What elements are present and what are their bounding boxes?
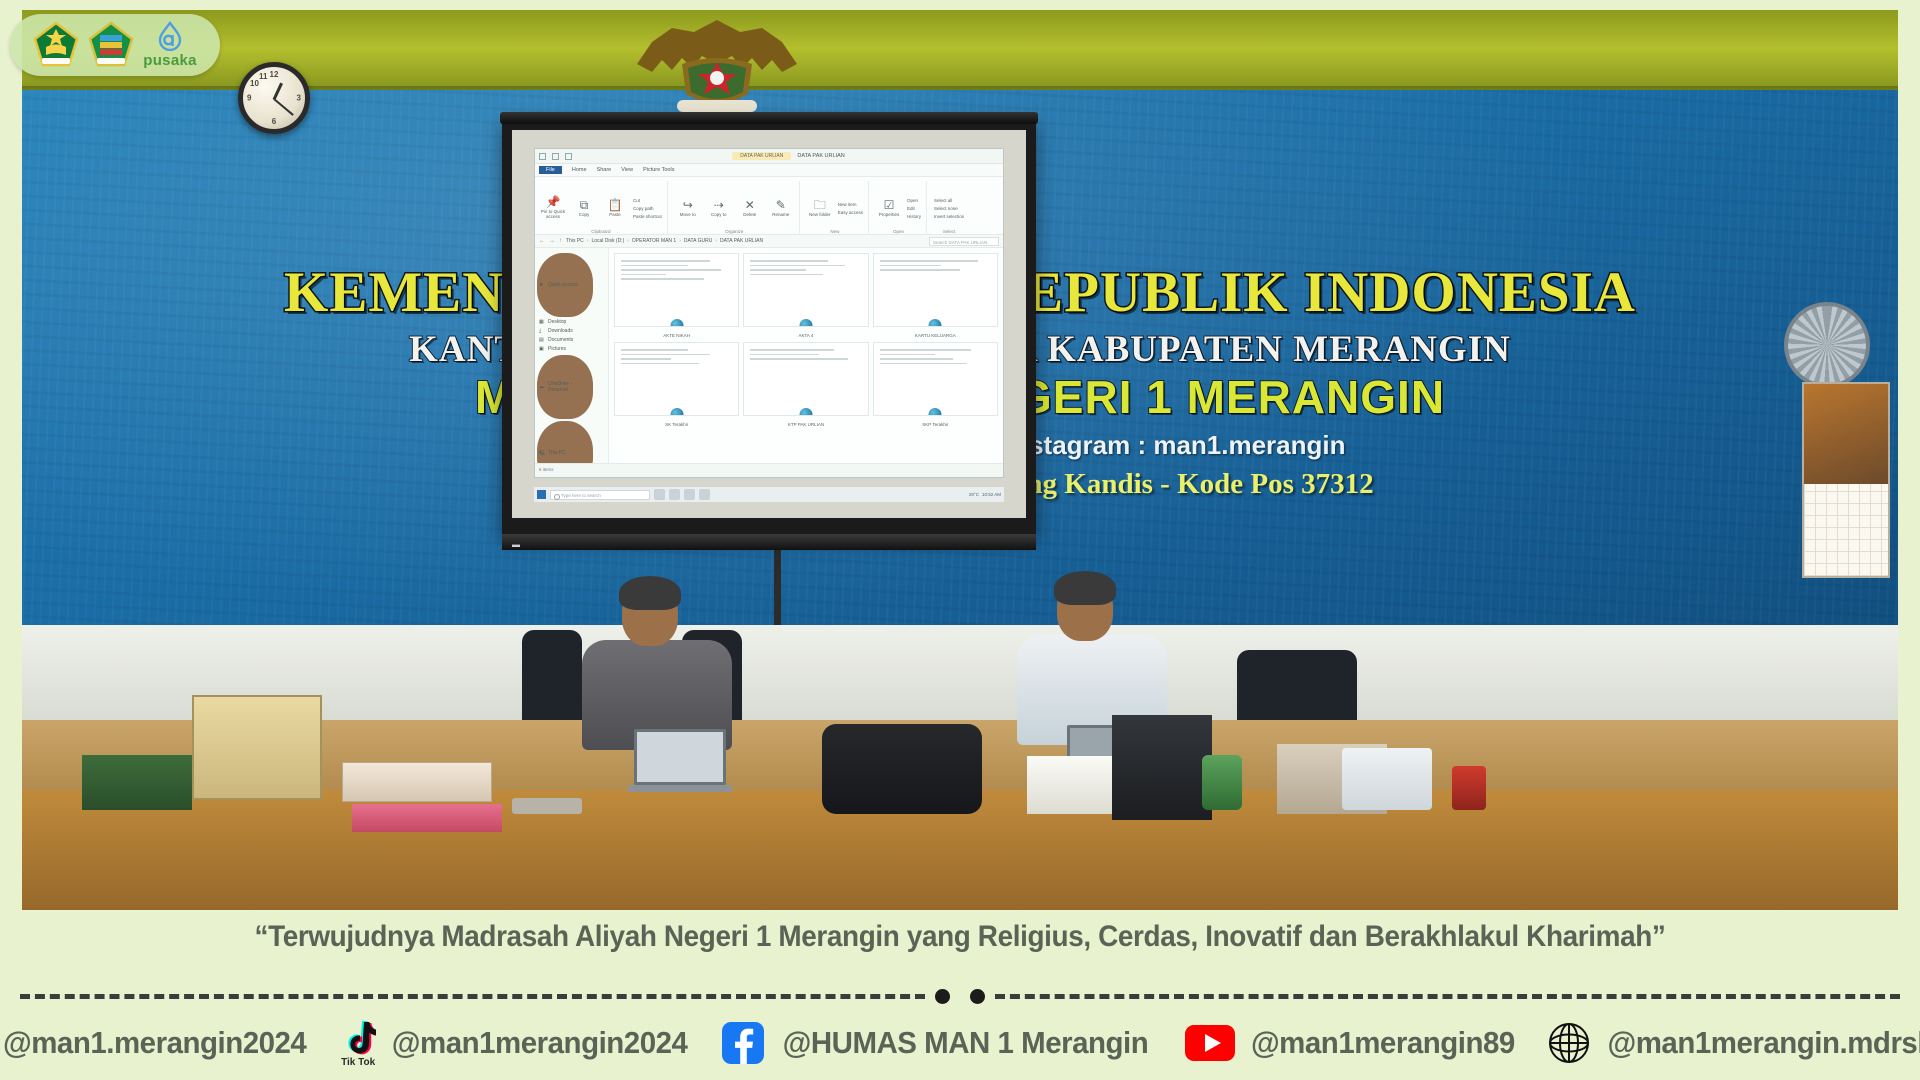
screen-canvas: DATA PAK URLIAN DATA PAK URLIAN File Hom…	[512, 130, 1026, 518]
ribbon-group-open: ☑ Properties Open Edit History Open	[871, 181, 927, 235]
divider-dot-left	[935, 989, 950, 1004]
facebook-handle[interactable]: @HUMAS MAN 1 Merangin	[783, 1025, 1149, 1061]
nav-label: Pictures	[548, 346, 566, 352]
book-stack-left	[82, 755, 192, 810]
speaker-box	[1112, 715, 1212, 820]
ribbon-group-label: Open	[871, 229, 926, 234]
ribbon-tab-strip[interactable]: File Home Share View Picture Tools	[535, 164, 1003, 177]
open-small-commands[interactable]: Open Edit History	[907, 198, 921, 219]
task-view-icon[interactable]	[654, 489, 665, 500]
explorer-taskbar-icon[interactable]	[669, 489, 680, 500]
save-icon[interactable]	[552, 153, 559, 160]
nav-item-onedrive[interactable]: ☁OneDrive - Personal	[537, 355, 593, 419]
cut-command[interactable]: Cut	[633, 198, 662, 203]
window-tab[interactable]: DATA PAK URLIAN	[732, 152, 791, 160]
file-item[interactable]: AKTE NIKAH	[614, 253, 739, 338]
youtube-handle[interactable]: @man1merangin89	[1251, 1025, 1515, 1061]
file-thumbnail	[873, 342, 998, 416]
ribbon-item-label: Pin to Quick access	[540, 210, 566, 220]
supplies-rack	[1342, 748, 1432, 810]
person-right-hair	[1054, 571, 1116, 605]
star-icon: ★	[539, 282, 545, 288]
social-media-bar: @man1.merangin2024 Tik Tok @man1merangin…	[0, 1012, 1920, 1074]
paste-icon: 📋	[608, 199, 623, 211]
download-icon: ⤓	[539, 328, 545, 334]
edge-html-icon	[670, 319, 683, 327]
ribbon-group-clipboard: 📌 Pin to Quick access ⧉ Copy 📋 Paste	[535, 181, 668, 235]
move-icon: ↪	[683, 199, 693, 211]
navigation-pane[interactable]: ★Quick access ▦Desktop ⤓Downloads ▤Docum…	[535, 248, 609, 463]
windows-taskbar[interactable]: Type here to search 29°C 10:52 AM	[534, 487, 1004, 502]
select-none-command[interactable]: Select none	[934, 206, 964, 211]
app-taskbar-icon[interactable]	[699, 489, 710, 500]
ribbon-group-label: New	[802, 229, 868, 234]
globe-icon[interactable]	[1548, 1022, 1590, 1064]
rename-icon: ✎	[776, 199, 786, 211]
address-bar[interactable]: ← → ↑ This PC › Local Disk (D:) › OPERAT…	[535, 235, 1003, 248]
youtube-icon[interactable]	[1184, 1024, 1236, 1062]
instagram-handle[interactable]: @man1.merangin2024	[3, 1025, 306, 1061]
file-thumbnail	[743, 253, 868, 327]
nav-label: Desktop	[548, 319, 566, 325]
person-left-hair	[619, 576, 681, 610]
file-thumbnail	[614, 342, 739, 416]
new-item-command[interactable]: New item	[838, 202, 863, 207]
taskbar-search-input[interactable]: Type here to search	[550, 490, 650, 500]
new-folder-button[interactable]: 🗀 New folder	[807, 199, 833, 218]
breadcrumb-sep: ›	[715, 238, 717, 244]
window-title-bar: DATA PAK URLIAN DATA PAK URLIAN	[535, 149, 1003, 164]
wall-clock: 12 3 6 9 10 11	[238, 62, 310, 134]
tiktok-caption: Tik Tok	[341, 1057, 375, 1068]
back-icon[interactable]: ←	[539, 238, 545, 244]
tiktok-handle[interactable]: @man1merangin2024	[392, 1025, 688, 1061]
breadcrumb-data-guru[interactable]: DATA GURU	[684, 238, 712, 244]
clock-time[interactable]: 10:52 AM	[982, 492, 1001, 497]
file-item[interactable]: KTP PAK URLIAN	[743, 342, 868, 427]
pin-icon: 📌	[546, 196, 561, 208]
screen-top-bar	[500, 112, 1038, 124]
move-to-button[interactable]: ↪ Move to	[675, 199, 701, 218]
properties-icon: ☑	[884, 199, 895, 211]
facebook-icon[interactable]	[721, 1021, 765, 1065]
weather-temp: 29°C	[969, 492, 979, 497]
pin-to-quick-access-button[interactable]: 📌 Pin to Quick access	[540, 196, 566, 220]
paste-button[interactable]: 📋 Paste	[602, 199, 628, 218]
chevron-down-icon[interactable]	[565, 153, 572, 160]
file-thumbnail	[614, 253, 739, 327]
breadcrumb-this-pc[interactable]: This PC	[566, 238, 584, 244]
file-name: AKTE NIKAH	[663, 333, 690, 338]
kemenag-crest-icon	[33, 21, 79, 69]
edit-command[interactable]: Edit	[907, 206, 921, 211]
file-item[interactable]: SKP Terakhir	[873, 342, 998, 427]
breadcrumb[interactable]: This PC › Local Disk (D:) › OPERATOR MAN…	[566, 238, 925, 244]
ribbon-item-label: Properties	[879, 213, 900, 218]
copy-path-command[interactable]: Copy path	[633, 206, 662, 211]
breadcrumb-local-disk[interactable]: Local Disk (D:)	[591, 238, 624, 244]
garuda-emblem-icon	[622, 12, 812, 127]
quick-access-toolbar-icon[interactable]	[539, 153, 546, 160]
projection-screen: DATA PAK URLIAN DATA PAK URLIAN File Hom…	[502, 118, 1036, 536]
document-tray-left	[192, 695, 322, 800]
delete-button[interactable]: ✕ Delete	[737, 199, 763, 218]
explorer-body: ★Quick access ▦Desktop ⤓Downloads ▤Docum…	[535, 248, 1003, 463]
pictures-icon: ▣	[539, 346, 545, 352]
new-folder-icon: 🗀	[814, 199, 826, 211]
divider-dash-right	[995, 994, 1900, 999]
screen-bottom-bar	[502, 534, 1036, 550]
onedrive-icon: ☁	[539, 384, 545, 390]
file-name: KTP PAK URLIAN	[788, 422, 824, 427]
rename-button[interactable]: ✎ Rename	[768, 199, 794, 218]
document-icon: ▤	[539, 337, 545, 343]
file-explorer-window[interactable]: DATA PAK URLIAN DATA PAK URLIAN File Hom…	[534, 148, 1004, 478]
ribbon-item-label: Delete	[743, 213, 756, 218]
breadcrumb-current[interactable]: DATA PAK URLIAN	[720, 238, 763, 244]
tiktok-logo-wrap[interactable]: Tik Tok	[340, 1019, 376, 1068]
ribbon-item-label: Copy to	[711, 213, 727, 218]
ribbon-group-label: Select	[929, 229, 969, 234]
black-bag	[822, 724, 982, 814]
school-vision-tagline: “Terwujudnya Madrasah Aliyah Negeri 1 Me…	[67, 920, 1853, 954]
social-facebook[interactable]: @HUMAS MAN 1 Merangin	[721, 1021, 1158, 1065]
ribbon-item-label: Copy	[579, 213, 590, 218]
start-button-icon[interactable]	[537, 490, 546, 499]
desktop-icon: ▦	[539, 319, 545, 325]
nav-label: Documents	[548, 337, 573, 343]
ribbon-group-select: Select all Select none Invert selection …	[929, 181, 969, 235]
divider-dash-left	[20, 994, 925, 999]
select-all-command[interactable]: Select all	[934, 198, 964, 203]
file-thumbnail	[873, 253, 998, 327]
potted-plant	[1202, 755, 1242, 810]
nav-item-this-pc[interactable]: 🖳This PC	[537, 421, 593, 463]
clipboard-small-commands[interactable]: Cut Copy path Paste shortcut	[633, 198, 662, 219]
poster-root: 12 3 6 9 10 11 KEMENTERIAN AGAMA REPUBLI…	[0, 0, 1920, 1080]
copy-to-icon: ⇢	[714, 199, 724, 211]
dashed-divider	[20, 990, 1900, 1002]
ribbon-group-label: Clipboard	[535, 229, 667, 234]
invert-selection-command[interactable]: Invert selection	[934, 214, 964, 219]
file-item[interactable]: SK Terakhir	[614, 342, 739, 427]
ribbon-group-organize: ↪ Move to ⇢ Copy to ✕ Delete	[670, 181, 800, 235]
file-name: SKP Terakhir	[922, 422, 948, 427]
website-handle[interactable]: @man1merangin.mdrsh.id	[1607, 1025, 1920, 1061]
nav-label: Downloads	[548, 328, 573, 334]
laptop-left	[634, 729, 732, 792]
copy-button[interactable]: ⧉ Copy	[571, 199, 597, 218]
tiktok-icon[interactable]	[340, 1019, 376, 1059]
copy-icon: ⧉	[580, 199, 589, 211]
tab-home[interactable]: Home	[572, 167, 587, 173]
breadcrumb-sep: ›	[587, 238, 589, 244]
forward-icon[interactable]: →	[549, 238, 555, 244]
file-list[interactable]: AKTE NIKAH AKTA 4	[609, 248, 1003, 463]
screen-brand-label: ▬	[512, 540, 520, 549]
person-right-head	[1057, 577, 1113, 641]
divider-dot-right	[970, 989, 985, 1004]
red-bottle	[1452, 766, 1486, 810]
ribbon-item-label: Move to	[680, 213, 696, 218]
nav-label: Quick access	[548, 282, 578, 288]
system-tray[interactable]: 29°C 10:52 AM	[969, 492, 1001, 497]
window-title: DATA PAK URLIAN	[797, 153, 844, 159]
ribbon-group-new: 🗀 New folder New item Easy access New	[802, 181, 869, 235]
nav-item-documents[interactable]: ▤Documents	[537, 335, 606, 344]
tab-view[interactable]: View	[621, 167, 633, 173]
edge-html-icon	[799, 319, 812, 327]
tab-file[interactable]: File	[539, 166, 562, 174]
social-youtube[interactable]: @man1merangin89	[1184, 1024, 1522, 1062]
nav-item-downloads[interactable]: ⤓Downloads	[537, 326, 606, 335]
ribbon[interactable]: 📌 Pin to Quick access ⧉ Copy 📋 Paste	[535, 177, 1003, 235]
new-small-commands[interactable]: New item Easy access	[838, 202, 863, 215]
explorer-search-input[interactable]: Search DATA PAK URLIAN	[929, 237, 999, 246]
binder-stack	[342, 762, 492, 802]
pc-icon: 🖳	[539, 450, 545, 456]
ribbon-item-label: Rename	[772, 213, 789, 218]
social-website[interactable]: @man1merangin.mdrsh.id	[1548, 1022, 1920, 1064]
edge-taskbar-icon[interactable]	[684, 489, 695, 500]
delete-icon: ✕	[745, 199, 755, 211]
pink-folder	[352, 804, 502, 832]
file-thumbnail	[743, 342, 868, 416]
file-name: SK Terakhir	[665, 422, 688, 427]
paste-shortcut-command[interactable]: Paste shortcut	[633, 214, 662, 219]
person-left-head	[622, 582, 678, 646]
event-photo: 12 3 6 9 10 11 KEMENTERIAN AGAMA REPUBLI…	[22, 10, 1898, 910]
breadcrumb-sep: ›	[679, 238, 681, 244]
ribbon-item-label: Paste	[609, 213, 621, 218]
edge-html-icon	[670, 408, 683, 416]
properties-button[interactable]: ☑ Properties	[876, 199, 902, 218]
person-left	[582, 582, 732, 750]
nav-item-quick-access[interactable]: ★Quick access	[537, 253, 593, 317]
nav-label: This PC	[548, 450, 566, 456]
tab-share[interactable]: Share	[597, 167, 612, 173]
open-command[interactable]: Open	[907, 198, 921, 203]
edge-html-icon	[799, 408, 812, 416]
nav-item-desktop[interactable]: ▦Desktop	[537, 317, 606, 326]
tab-picture-tools[interactable]: Picture Tools	[643, 167, 674, 173]
file-name: AKTA 4	[799, 333, 814, 338]
social-instagram[interactable]: @man1.merangin2024	[0, 1021, 314, 1065]
pusaka-droplet-icon	[155, 21, 185, 51]
merangin-regency-crest-icon	[88, 21, 134, 69]
select-small-commands[interactable]: Select all Select none Invert selection	[934, 198, 964, 219]
edge-html-icon	[929, 408, 942, 416]
mouse-pad	[512, 798, 582, 814]
file-item[interactable]: KARTU KELUARGA	[873, 253, 998, 338]
logo-pill: pusaka	[10, 14, 220, 76]
nav-label: OneDrive - Personal	[548, 381, 591, 393]
file-name: KARTU KELUARGA	[915, 333, 956, 338]
file-item[interactable]: AKTA 4	[743, 253, 868, 338]
breadcrumb-sep: ›	[627, 238, 629, 244]
copy-to-button[interactable]: ⇢ Copy to	[706, 199, 732, 218]
easy-access-command[interactable]: Easy access	[838, 210, 863, 215]
social-tiktok[interactable]: Tik Tok @man1merangin2024	[340, 1019, 695, 1068]
wall-fan	[1784, 302, 1870, 388]
ribbon-item-label: New folder	[809, 213, 831, 218]
wall-calendar	[1802, 382, 1890, 578]
up-icon[interactable]: ↑	[559, 238, 562, 244]
history-command[interactable]: History	[907, 214, 921, 219]
breadcrumb-operator[interactable]: OPERATOR MAN 1	[632, 238, 676, 244]
ribbon-group-label: Organize	[670, 229, 799, 234]
pusaka-logo: pusaka	[143, 21, 197, 69]
edge-html-icon	[929, 319, 942, 327]
status-bar: 6 items	[535, 463, 1003, 474]
pusaka-label: pusaka	[143, 52, 197, 69]
nav-item-pictures[interactable]: ▣Pictures	[537, 344, 606, 353]
